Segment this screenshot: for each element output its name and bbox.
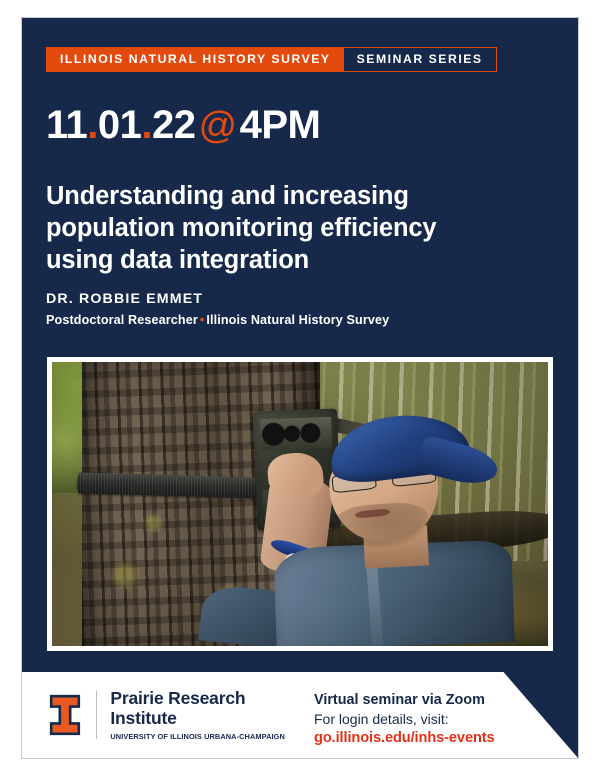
seminar-poster: ILLINOIS NATURAL HISTORY SURVEY SEMINAR … <box>22 18 578 758</box>
prairie-research-institute-logo: Prairie Research Institute UNIVERSITY OF… <box>48 689 285 740</box>
speaker-name: DR. ROBBIE EMMET <box>46 291 203 307</box>
poster-canvas: ILLINOIS NATURAL HISTORY SURVEY SEMINAR … <box>0 0 600 776</box>
logo-wordmark: Prairie Research Institute UNIVERSITY OF… <box>110 689 284 740</box>
access-info: Virtual seminar via Zoom For login detai… <box>314 691 495 749</box>
date-separator-2: . <box>141 103 152 147</box>
access-link[interactable]: go.illinois.edu/inhs-events <box>314 729 495 749</box>
banner-series-label: SEMINAR SERIES <box>357 53 483 65</box>
event-month: 01 <box>98 103 142 147</box>
logo-line-1: Prairie Research <box>110 689 284 709</box>
banner: ILLINOIS NATURAL HISTORY SURVEY SEMINAR … <box>46 47 497 72</box>
block-i-icon <box>48 694 82 736</box>
banner-series-block: SEMINAR SERIES <box>344 47 497 72</box>
speaker-institution: Illinois Natural History Survey <box>206 313 389 327</box>
date-separator-1: . <box>87 103 98 147</box>
speaker-photo <box>52 362 548 646</box>
logo-line-2: Institute <box>110 709 284 729</box>
access-instructions: For login details, visit: <box>314 710 495 729</box>
speaker-affiliation: Postdoctoral Researcher•Illinois Natural… <box>46 313 389 327</box>
logo-divider <box>96 691 97 739</box>
event-time: 4PM <box>240 103 321 147</box>
logo-university-line: UNIVERSITY OF ILLINOIS URBANA-CHAMPAIGN <box>110 733 284 740</box>
banner-org-label: ILLINOIS NATURAL HISTORY SURVEY <box>60 53 331 65</box>
speaker-role: Postdoctoral Researcher <box>46 313 198 327</box>
photo-vignette <box>52 362 548 646</box>
footer: Prairie Research Institute UNIVERSITY OF… <box>22 672 578 758</box>
event-day: 11 <box>46 103 87 147</box>
talk-title: Understanding and increasing population … <box>46 180 506 276</box>
event-year: 22 <box>152 103 196 147</box>
event-datetime: 11.01.22@4PM <box>46 104 320 147</box>
at-symbol-icon: @ <box>196 105 240 147</box>
banner-org-block: ILLINOIS NATURAL HISTORY SURVEY <box>46 47 344 72</box>
access-heading: Virtual seminar via Zoom <box>314 691 495 710</box>
speaker-photo-frame <box>47 357 553 651</box>
